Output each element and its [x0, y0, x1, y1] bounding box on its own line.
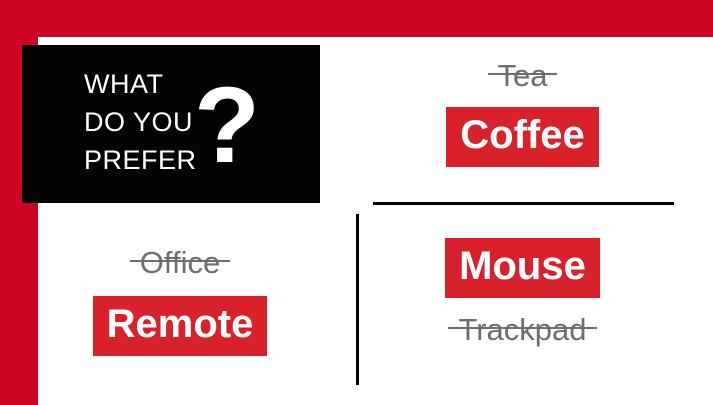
rejected-option-tea[interactable]: Tea: [494, 58, 552, 93]
rejected-option-trackpad[interactable]: Trackpad: [454, 312, 590, 347]
choice-group-beverage: Tea Coffee: [400, 58, 645, 167]
divider-vertical: [356, 214, 359, 385]
title-card: WHAT DO YOU PREFER ?: [22, 45, 320, 203]
preference-poster: WHAT DO YOU PREFER ? Tea Coffee Office R…: [0, 0, 713, 405]
choice-group-pointer: Mouse Trackpad: [400, 238, 645, 347]
choice-group-workplace: Office Remote: [55, 245, 305, 356]
divider-horizontal: [373, 202, 674, 205]
chosen-option-coffee[interactable]: Coffee: [446, 107, 598, 167]
question-mark-glyph: ?: [194, 71, 260, 179]
rejected-option-office[interactable]: Office: [136, 245, 224, 280]
frame-top-bar: [0, 0, 713, 37]
chosen-option-mouse[interactable]: Mouse: [445, 238, 600, 298]
chosen-option-remote[interactable]: Remote: [93, 296, 268, 356]
